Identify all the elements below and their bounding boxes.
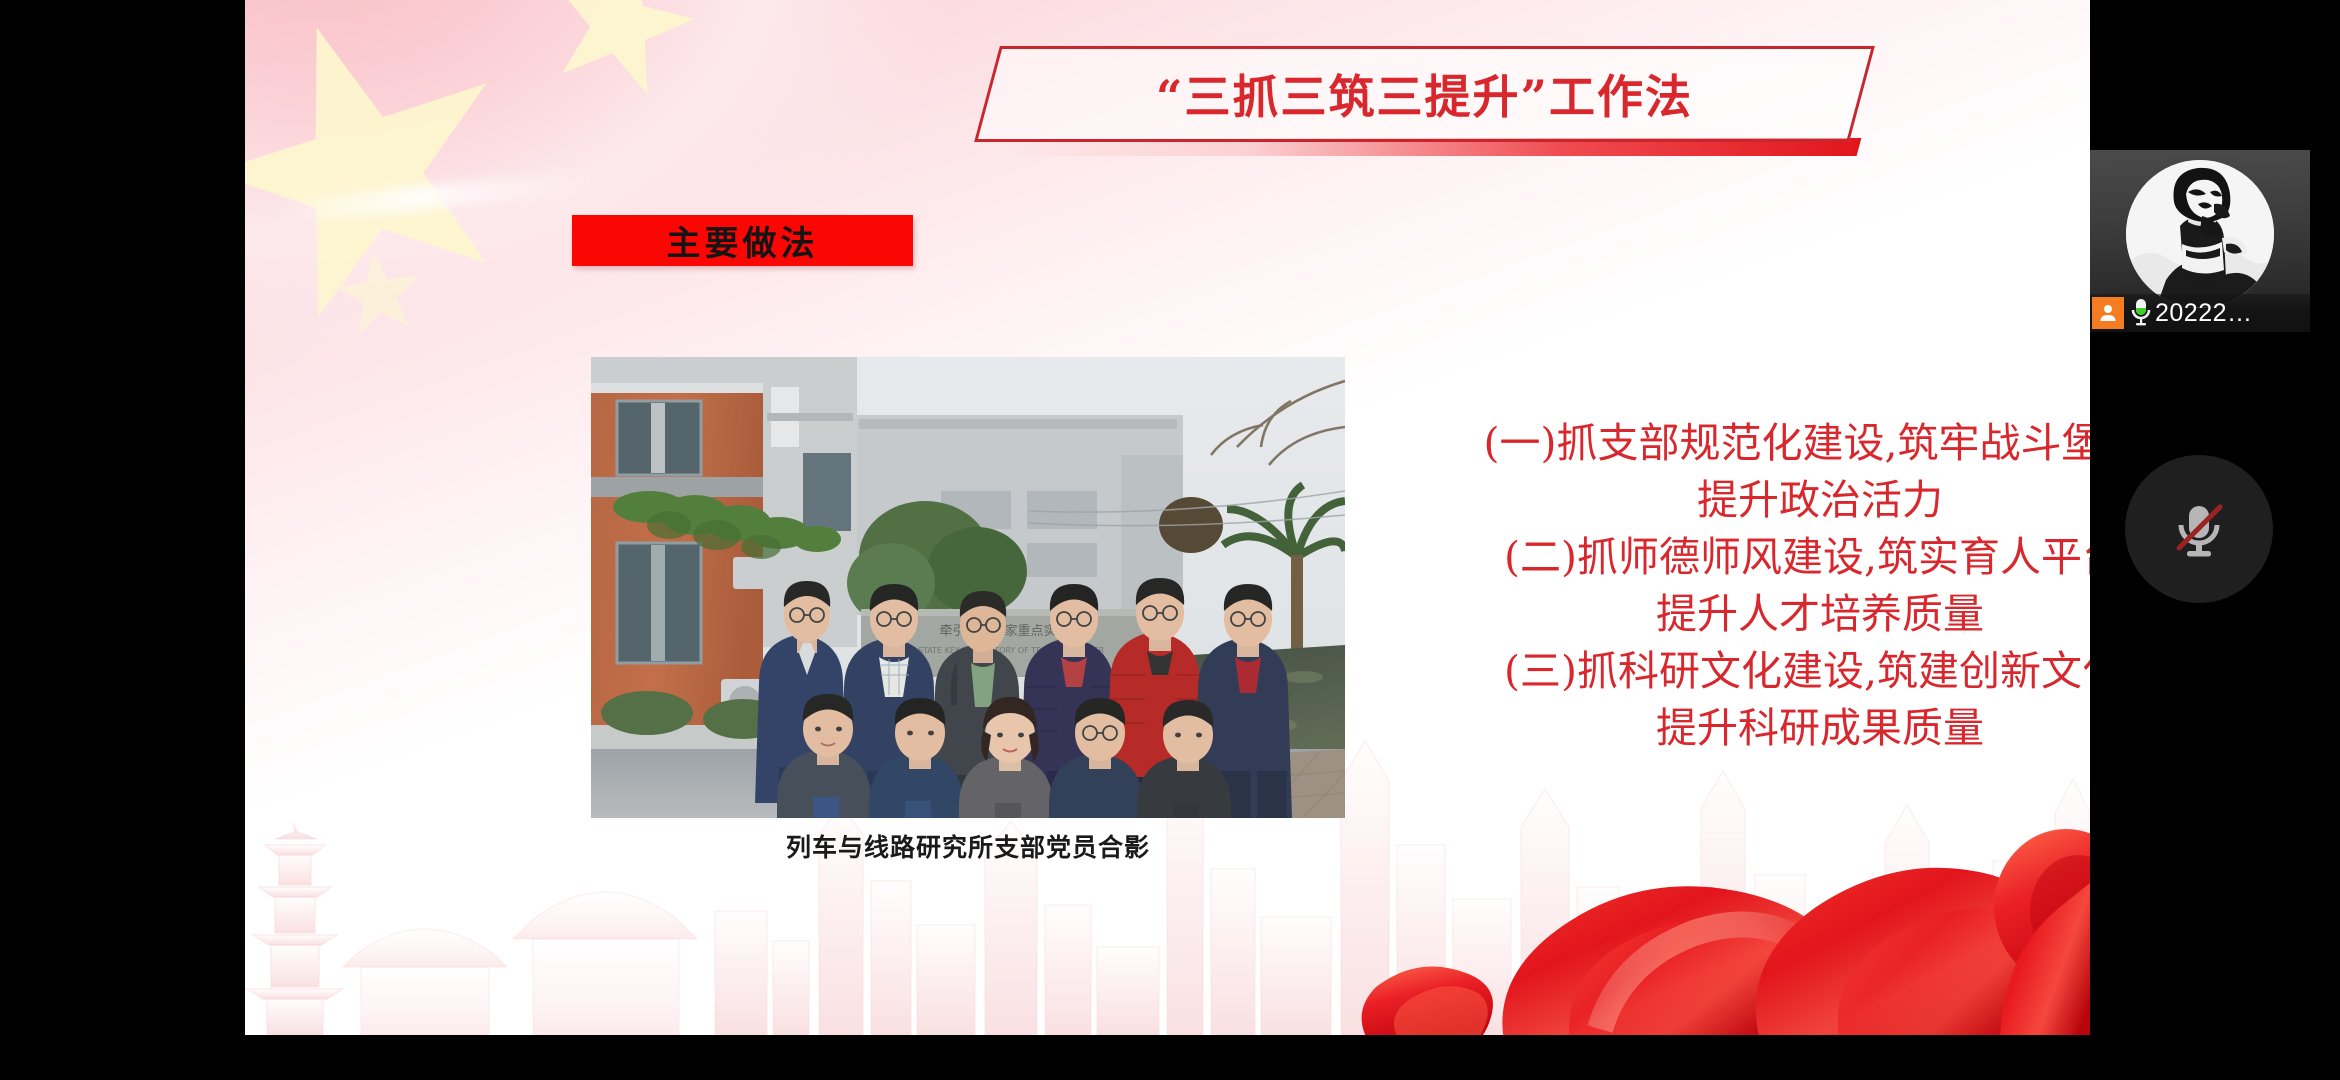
body-line-2: 提升政治活力 xyxy=(1405,472,2090,529)
body-line-5: (三)抓科研文化建设,筑建创新文化, xyxy=(1405,643,2090,700)
body-line-3: (二)抓师德师风建设,筑实育人平台, xyxy=(1405,529,2090,586)
group-photo-image: 牵引动力国家重点实验室 STATE KEY LABORATORY OF TRAC… xyxy=(591,357,1345,818)
participant-name: 20222… xyxy=(2155,299,2253,328)
body-line-4: 提升人才培养质量 xyxy=(1405,586,2090,643)
slide-body-text: (一)抓支部规范化建设,筑牢战斗堡垒, 提升政治活力 (二)抓师德师风建设,筑实… xyxy=(1405,415,2090,757)
mute-toggle-button[interactable] xyxy=(2125,455,2273,603)
avatar xyxy=(2126,160,2274,308)
screen-share-view: “三抓三筑三提升”工作法 主要做法 xyxy=(0,0,2340,1080)
presentation-slide: “三抓三筑三提升”工作法 主要做法 xyxy=(245,0,2090,1035)
participant-video-tile[interactable]: 20222… xyxy=(2090,150,2310,332)
microphone-on-icon xyxy=(2128,297,2154,329)
person-icon xyxy=(2092,297,2124,329)
group-photo: 牵引动力国家重点实验室 STATE KEY LABORATORY OF TRAC… xyxy=(591,357,1345,818)
page-title: “三抓三筑三提升”工作法 xyxy=(987,46,1862,142)
participant-avatar xyxy=(2126,160,2274,308)
section-banner: 主要做法 xyxy=(572,215,913,266)
participant-label-bar: 20222… xyxy=(2090,294,2310,332)
section-banner-label: 主要做法 xyxy=(667,216,819,265)
body-line-6: 提升科研成果质量 xyxy=(1405,700,2090,757)
microphone-muted-icon xyxy=(2162,492,2236,566)
photo-caption: 列车与线路研究所支部党员合影 xyxy=(591,828,1345,864)
body-line-1: (一)抓支部规范化建设,筑牢战斗堡垒, xyxy=(1405,415,2090,472)
